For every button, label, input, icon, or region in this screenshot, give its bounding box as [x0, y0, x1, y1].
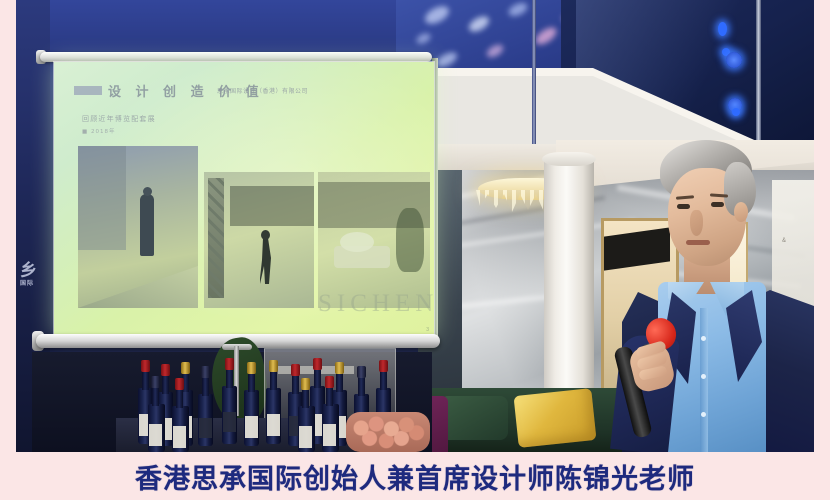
wine-bottle: [198, 394, 213, 446]
bottle-label: [149, 424, 162, 446]
slide-photo-wall: [78, 146, 126, 250]
wall-logo: 乡国际: [20, 262, 46, 296]
photo-card: & 乡国际 设 计 创 造 价 值 思承国际设计（香港）有限公司 回顾近年博览配…: [0, 0, 830, 500]
projection-screen: 设 计 创 造 价 值 思承国际设计（香港）有限公司 回顾近年博览配套展 ■ 2…: [54, 62, 434, 336]
slide-photo-plant: [396, 208, 424, 272]
slide-photo-figure: [260, 238, 271, 284]
bottle-label: [173, 426, 186, 448]
wine-bottle: [222, 386, 237, 444]
slide-photo-figure: [140, 194, 154, 256]
bottle-cap: [141, 360, 150, 372]
wine-bottle: [266, 388, 281, 444]
bottle-cap: [201, 366, 210, 378]
blue-led-light: [726, 52, 742, 68]
slide-section-year: ■ 2018年: [82, 127, 115, 135]
bottle-cap: [225, 358, 234, 370]
shirt-placket: [700, 308, 708, 452]
bottle-label: [323, 424, 336, 446]
mouth: [686, 240, 710, 245]
grape-cluster: [346, 412, 430, 452]
sofa-cushion: [440, 396, 508, 440]
bottle-label: [267, 414, 280, 436]
speaker-figure: [606, 140, 814, 452]
eye: [711, 202, 724, 207]
slide-photo-furniture: [340, 232, 374, 252]
slide-subtitle: 思承国际设计（香港）有限公司: [217, 86, 308, 95]
bottle-cap: [181, 362, 190, 374]
screen-roller-bar: [40, 52, 432, 62]
glass-mullion: [532, 0, 536, 150]
slide-page-number: 3: [426, 327, 429, 333]
slide-photo-truss: [208, 178, 224, 298]
bottle-cap: [335, 362, 344, 374]
shirt-button: [701, 336, 706, 341]
slide-photo-backdrop: [230, 186, 314, 226]
slide-photo-figure-head: [143, 187, 152, 196]
slide-section-heading: 回顾近年博览配套展: [82, 114, 156, 124]
wine-bottle: [244, 390, 259, 446]
nose: [690, 210, 703, 236]
shirt-button: [701, 412, 706, 417]
gold-pillow: [513, 388, 596, 448]
wine-bottle: [298, 406, 315, 452]
caption-bar: 香港思承国际创始人兼首席设计师陈锦光老师: [0, 452, 830, 500]
caption-text: 香港思承国际创始人兼首席设计师陈锦光老师: [135, 457, 695, 496]
blue-led-light: [718, 22, 727, 36]
bottle-cap: [269, 360, 278, 372]
bottle-cap: [175, 378, 184, 390]
slide-photo-1: [78, 146, 198, 308]
shirt-button: [701, 374, 706, 379]
slide-photo-figure-head: [261, 230, 270, 240]
bottle-label: [223, 412, 236, 432]
bottle-cap: [357, 366, 366, 378]
bottle-cap: [161, 364, 170, 376]
bottle-label: [245, 416, 258, 438]
wine-bottle: [148, 404, 165, 452]
slide-photo-floor: [78, 250, 198, 308]
eye: [677, 204, 690, 209]
bottle-cap: [151, 376, 160, 388]
event-photograph: & 乡国际 设 计 创 造 价 值 思承国际设计（香港）有限公司 回顾近年博览配…: [16, 0, 814, 452]
slide-watermark: SICHENG: [318, 290, 434, 318]
slide-title-accent-bar: [74, 86, 102, 95]
ear: [734, 202, 748, 222]
bottle-cap: [291, 364, 300, 376]
bottle-cap: [301, 378, 310, 390]
bottle-label: [199, 418, 212, 438]
bottle-label: [299, 426, 312, 448]
bottle-cap: [247, 362, 256, 374]
bottle-cap: [313, 358, 322, 370]
wine-bottle: [172, 406, 189, 452]
slide-photo-2: [204, 172, 314, 308]
blue-led-light: [732, 108, 740, 116]
bottle-cap: [379, 360, 388, 372]
wine-bottle: [322, 404, 339, 452]
slide-photo-3: [318, 172, 430, 308]
bottle-cap: [325, 376, 334, 388]
column-capital: [542, 152, 596, 166]
